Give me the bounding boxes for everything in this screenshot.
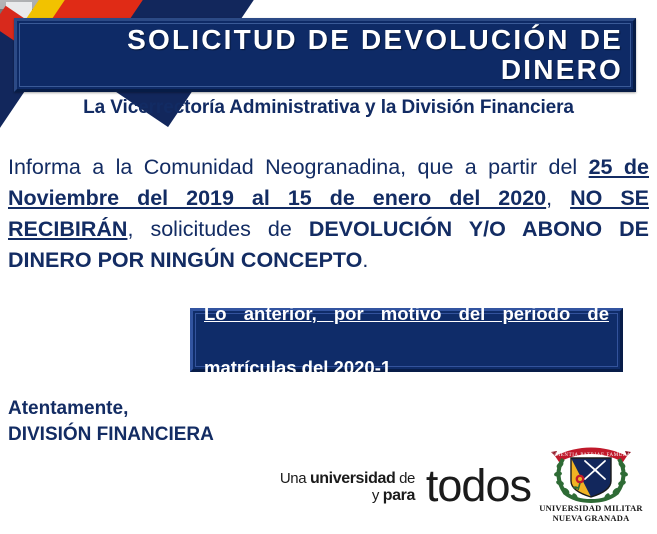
body-segment-period: . <box>362 248 368 272</box>
slogan-lines: Una universidad de y para <box>280 470 415 504</box>
header-plaque: SOLICITUD DE DEVOLUCIÓN DE DINERO <box>14 18 636 92</box>
body-segment-intro: Informa a la Comunidad Neogranadina, que… <box>8 155 589 179</box>
crest-emblem-icon: SCIENTIA PATRIAE FAMULA <box>545 443 637 505</box>
slogan-line-1: Una universidad de <box>280 470 415 487</box>
page-title: SOLICITUD DE DEVOLUCIÓN DE DINERO <box>127 25 633 85</box>
crest-name-line-1: UNIVERSIDAD MILITAR <box>530 503 652 513</box>
signature-department: DIVISIÓN FINANCIERA <box>8 422 214 448</box>
svg-text:SCIENTIA PATRIAE FAMULA: SCIENTIA PATRIAE FAMULA <box>551 453 631 458</box>
signature-block: Atentamente, DIVISIÓN FINANCIERA <box>8 396 214 448</box>
slogan-line-2: y para <box>280 487 415 504</box>
slogan-una: Una <box>280 470 310 487</box>
body-segment-comma-1: , <box>546 186 570 210</box>
callout-box: Lo anterior, por motivo del periodo de m… <box>190 308 623 372</box>
footer-slogan: Una universidad de y para todos <box>296 466 531 522</box>
callout-text: Lo anterior, por motivo del periodo de m… <box>193 300 620 381</box>
slogan-de: de <box>395 470 415 487</box>
callout-line-2: matrículas del 2020-1 <box>204 354 609 381</box>
callout-line-1: Lo anterior, por motivo del periodo de <box>204 300 609 354</box>
university-crest: SCIENTIA PATRIAE FAMULA <box>530 443 652 529</box>
crest-name-line-2: NUEVA GRANADA <box>530 513 652 523</box>
slogan-universidad: universidad <box>310 470 395 487</box>
header-subtitle: La Vicerrectoría Administrativa y la Div… <box>0 97 657 119</box>
slogan-para: para <box>383 487 415 504</box>
body-paragraph: Informa a la Comunidad Neogranadina, que… <box>8 152 649 276</box>
slogan-y: y <box>372 487 383 504</box>
slogan-todos: todos <box>426 460 531 512</box>
signature-closing: Atentamente, <box>8 396 214 422</box>
body-segment-solicitudes: , solicitudes de <box>127 217 308 241</box>
crest-name: UNIVERSIDAD MILITAR NUEVA GRANADA <box>530 503 652 523</box>
